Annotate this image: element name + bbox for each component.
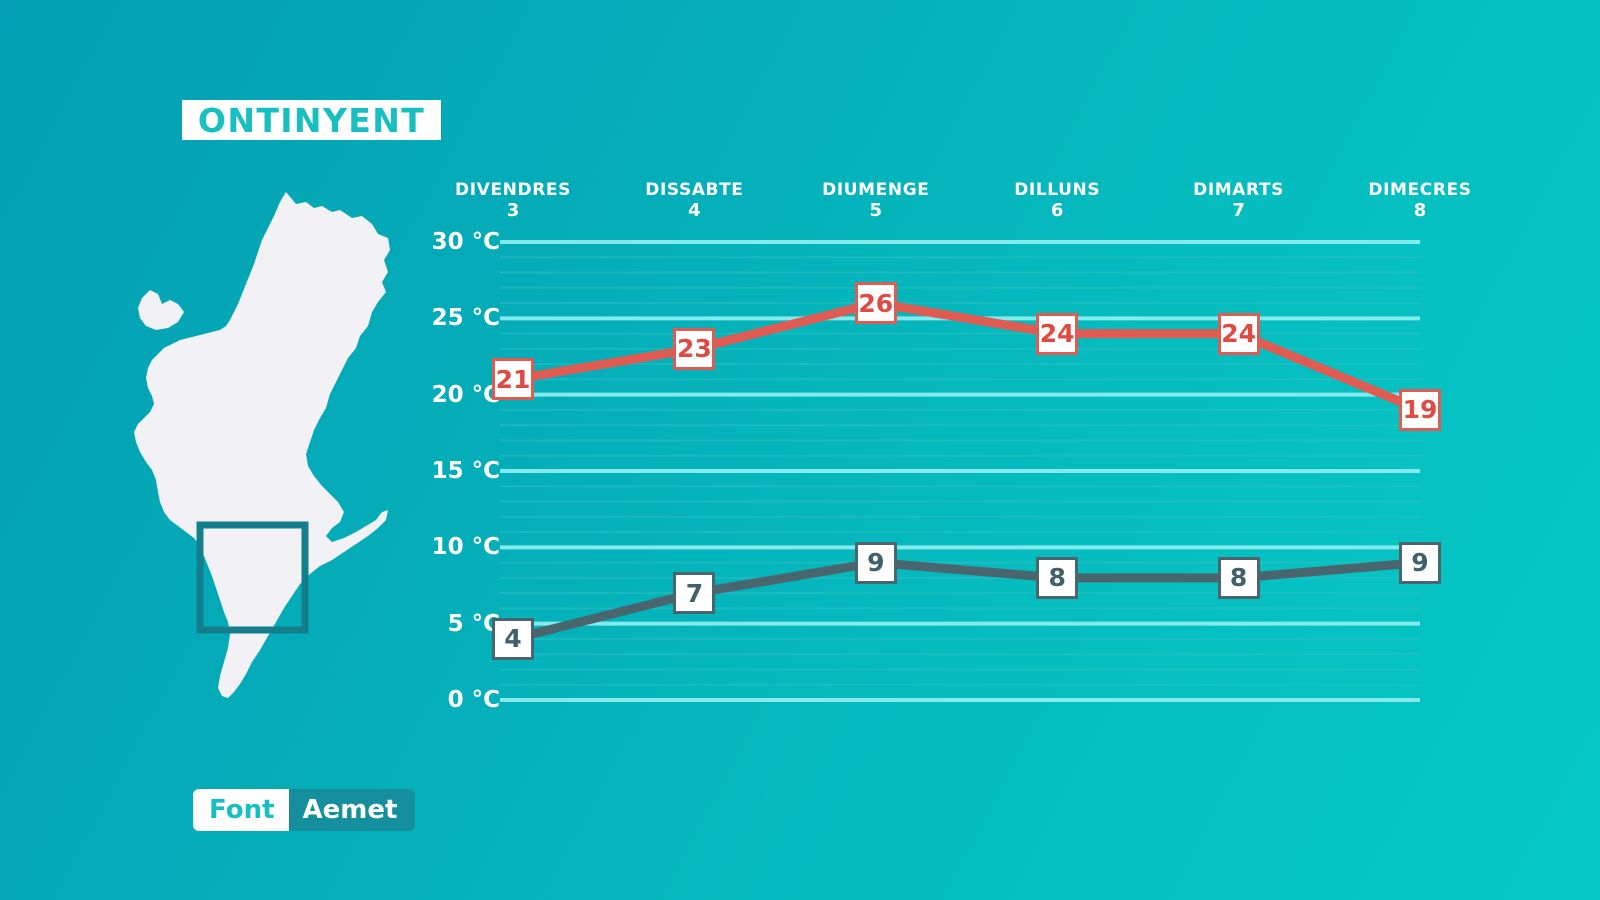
location-title-badge: ONTINYENT <box>182 100 441 140</box>
day-name: DIMECRES <box>1330 180 1510 200</box>
map-region-shape <box>134 192 390 698</box>
max-temp-value-1: 21 <box>492 358 534 400</box>
day-header-6: DIMECRES8 <box>1330 180 1510 222</box>
day-name: DISSABTE <box>604 180 784 200</box>
day-header-2: DISSABTE4 <box>604 180 784 222</box>
max-temp-value-2: 23 <box>673 328 715 370</box>
day-name: DIMARTS <box>1149 180 1329 200</box>
max-temp-line <box>513 303 1420 410</box>
day-header-5: DIMARTS7 <box>1149 180 1329 222</box>
min-temp-value-1: 4 <box>492 618 534 660</box>
day-header-4: DILLUNS6 <box>967 180 1147 222</box>
day-header-1: DIVENDRES3 <box>423 180 603 222</box>
day-header-row: DIVENDRES3DISSABTE4DIUMENGE5DILLUNS6DIMA… <box>430 170 1440 225</box>
day-number: 6 <box>967 200 1147 222</box>
chart-plot-area: 0 °C5 °C10 °C15 °C20 °C25 °C30 °C 212326… <box>430 225 1440 725</box>
min-temp-line <box>513 563 1420 639</box>
day-number: 7 <box>1149 200 1329 222</box>
day-name: DIVENDRES <box>423 180 603 200</box>
region-map <box>100 180 420 760</box>
min-temp-value-5: 8 <box>1218 557 1260 599</box>
max-temp-value-5: 24 <box>1218 313 1260 355</box>
day-name: DILLUNS <box>967 180 1147 200</box>
temperature-chart: DIVENDRES3DISSABTE4DIUMENGE5DILLUNS6DIMA… <box>430 170 1440 730</box>
day-number: 4 <box>604 200 784 222</box>
page-title: ONTINYENT <box>198 104 425 137</box>
min-temp-value-3: 9 <box>855 542 897 584</box>
map-enclave-shape <box>138 290 184 330</box>
max-temp-value-3: 26 <box>855 282 897 324</box>
min-temp-value-4: 8 <box>1036 557 1078 599</box>
day-name: DIUMENGE <box>786 180 966 200</box>
day-number: 8 <box>1330 200 1510 222</box>
source-label: Font <box>193 789 289 831</box>
source-badge: Font Aemet <box>193 789 415 831</box>
source-value: Aemet <box>289 789 416 831</box>
day-number: 5 <box>786 200 966 222</box>
min-temp-value-2: 7 <box>673 572 715 614</box>
min-temp-value-6: 9 <box>1399 542 1441 584</box>
day-header-3: DIUMENGE5 <box>786 180 966 222</box>
day-number: 3 <box>423 200 603 222</box>
max-temp-value-6: 19 <box>1399 389 1441 431</box>
max-temp-value-4: 24 <box>1036 313 1078 355</box>
chart-series-lines <box>430 225 1440 725</box>
